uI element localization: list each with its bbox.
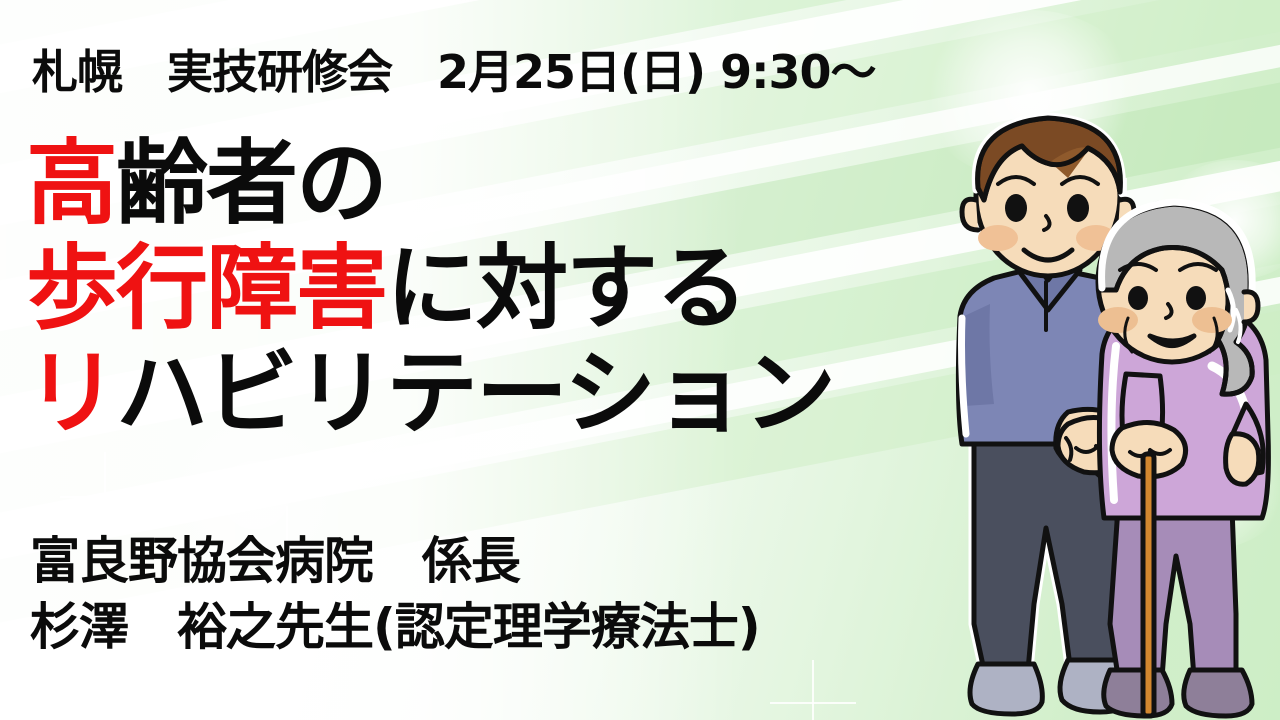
speaker-name-line: 杉澤 裕之先生(認定理学療法士) — [30, 594, 760, 660]
speaker-affiliation-line: 富良野協会病院 係長 — [30, 528, 760, 594]
title-line-1-red: 高 — [26, 130, 116, 237]
title-line-3-red: リ — [26, 340, 116, 447]
title-line-1: 高齢者の — [26, 132, 834, 237]
poster-canvas: 札幌 実技研修会 2月25日(日) 9:30〜 高齢者の 歩行障害に対する リハ… — [0, 0, 1280, 720]
title-line-2-red: 歩行障害 — [26, 235, 386, 342]
title-line-1-black: 齢者の — [116, 130, 386, 237]
title-line-3-black: ハビリテーション — [116, 340, 834, 447]
title-line-3: リハビリテーション — [26, 342, 834, 447]
header-line: 札幌 実技研修会 2月25日(日) 9:30〜 — [32, 36, 876, 102]
main-title: 高齢者の 歩行障害に対する リハビリテーション — [26, 132, 834, 447]
speaker-info: 富良野協会病院 係長 杉澤 裕之先生(認定理学療法士) — [30, 528, 760, 660]
title-line-2: 歩行障害に対する — [26, 237, 834, 342]
text-layer: 札幌 実技研修会 2月25日(日) 9:30〜 高齢者の 歩行障害に対する リハ… — [0, 0, 1280, 720]
title-line-2-black: に対する — [386, 235, 746, 342]
